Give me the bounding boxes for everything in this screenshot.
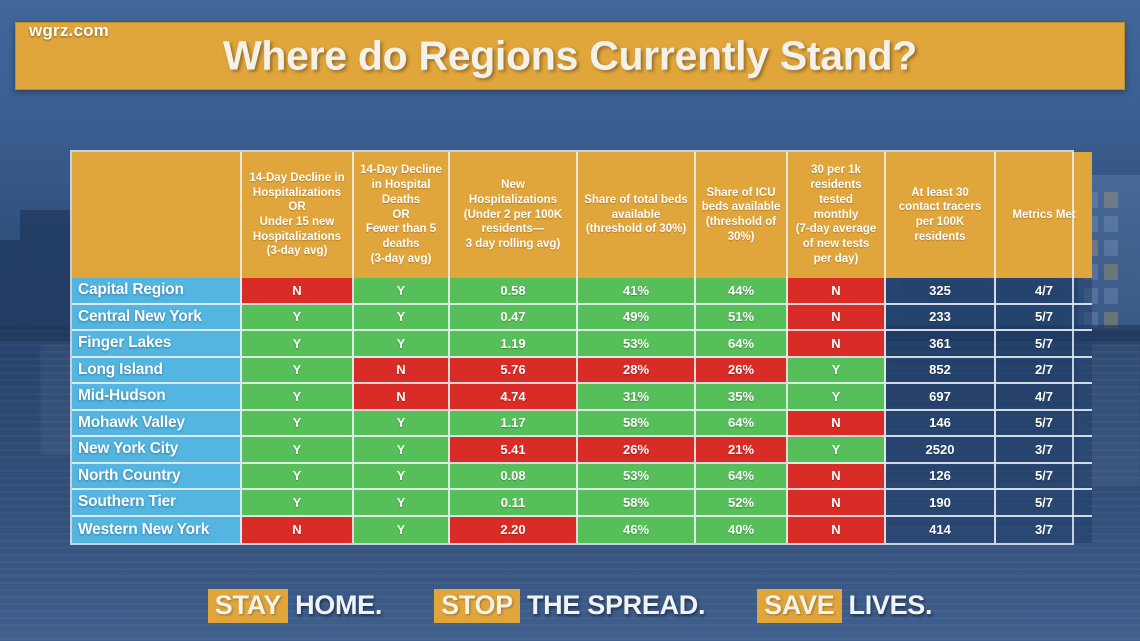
cell-hosp-decline: Y <box>242 358 354 385</box>
cell-total-beds: 28% <box>578 358 696 385</box>
header-line: beds available <box>702 201 781 213</box>
header-cell-6: 30 per 1kresidentstestedmonthly(7-day av… <box>788 152 886 278</box>
cell-testing: N <box>788 411 886 438</box>
cell-testing: N <box>788 517 886 544</box>
slogan-text: HOME. <box>295 590 382 621</box>
cell-metrics-met: 5/7 <box>996 305 1092 332</box>
cell-total-beds: 41% <box>578 278 696 305</box>
header-line: 30 per 1k <box>811 164 861 176</box>
cell-metrics-met: 5/7 <box>996 411 1092 438</box>
cell-icu-beds: 26% <box>696 358 788 385</box>
header-line: residents <box>914 231 965 243</box>
header-line: (3-day avg) <box>371 253 432 265</box>
slogan-highlight: STOP <box>434 589 520 623</box>
page-title: Where do Regions Currently Stand? <box>16 33 1124 80</box>
cell-region-name: Central New York <box>72 305 242 332</box>
window <box>1104 240 1118 256</box>
cell-region-name: Western New York <box>72 517 242 544</box>
table-row: New York CityYY5.4126%21%Y25203/7 <box>72 437 1092 464</box>
header-line: (3-day avg) <box>267 245 328 257</box>
header-line: (7-day average <box>796 223 877 235</box>
cell-contact-tracers: 233 <box>886 305 996 332</box>
slogan-text: LIVES. <box>849 590 933 621</box>
cell-contact-tracers: 414 <box>886 517 996 544</box>
header-cell-1: 14-Day Decline inHospitalizationsORUnder… <box>242 152 354 278</box>
cell-total-beds: 53% <box>578 331 696 358</box>
header-row: 14-Day Decline inHospitalizationsORUnder… <box>72 152 1092 278</box>
header-line: (threshold of 30%) <box>586 223 686 235</box>
table-row: Mohawk ValleyYY1.1758%64%N1465/7 <box>72 411 1092 438</box>
cell-hosp-decline: Y <box>242 437 354 464</box>
header-line: per day) <box>814 253 859 265</box>
table-body: Capital RegionNY0.5841%44%N3254/7Central… <box>72 278 1092 543</box>
cell-testing: N <box>788 331 886 358</box>
table-row: Mid-HudsonYN4.7431%35%Y6974/7 <box>72 384 1092 411</box>
cell-new-hospitalizations: 0.11 <box>450 490 578 517</box>
slogan-phrase-2: STOPTHE SPREAD. <box>434 589 705 623</box>
cell-total-beds: 31% <box>578 384 696 411</box>
cell-death-decline: Y <box>354 411 450 438</box>
table-row: Southern TierYY0.1158%52%N1905/7 <box>72 490 1092 517</box>
cell-metrics-met: 4/7 <box>996 278 1092 305</box>
header-line: Hospitalizations <box>253 187 341 199</box>
table-row: North CountryYY0.0853%64%N1265/7 <box>72 464 1092 491</box>
table-row: Western New YorkNY2.2046%40%N4143/7 <box>72 517 1092 544</box>
slogan-highlight: SAVE <box>757 589 841 623</box>
header-line: Share of ICU <box>706 187 775 199</box>
cell-region-name: New York City <box>72 437 242 464</box>
cell-icu-beds: 52% <box>696 490 788 517</box>
cell-new-hospitalizations: 0.58 <box>450 278 578 305</box>
header-line: Deaths <box>382 194 420 206</box>
cell-testing: N <box>788 278 886 305</box>
header-cell-5: Share of ICUbeds available(threshold of3… <box>696 152 788 278</box>
header-line: Hospitalizations <box>469 194 557 206</box>
header-line: OR <box>392 209 409 221</box>
cell-new-hospitalizations: 0.08 <box>450 464 578 491</box>
cell-death-decline: Y <box>354 490 450 517</box>
cell-testing: N <box>788 305 886 332</box>
cell-hosp-decline: Y <box>242 384 354 411</box>
cell-metrics-met: 2/7 <box>996 358 1092 385</box>
cell-total-beds: 26% <box>578 437 696 464</box>
window <box>1104 216 1118 232</box>
regions-metrics-table: 14-Day Decline inHospitalizationsORUnder… <box>72 152 1092 543</box>
cell-testing: N <box>788 464 886 491</box>
header-line: (threshold of <box>706 216 776 228</box>
cell-death-decline: N <box>354 358 450 385</box>
table-header: 14-Day Decline inHospitalizationsORUnder… <box>72 152 1092 278</box>
header-line: 30%) <box>728 231 755 243</box>
table-row: Central New YorkYY0.4749%51%N2335/7 <box>72 305 1092 332</box>
cell-metrics-met: 4/7 <box>996 384 1092 411</box>
slogan-text: THE SPREAD. <box>527 590 705 621</box>
header-cell-8: Metrics Met <box>996 152 1092 278</box>
cell-metrics-met: 3/7 <box>996 517 1092 544</box>
header-line: Under 15 new <box>260 216 335 228</box>
header-line: available <box>612 209 661 221</box>
table-row: Long IslandYN5.7628%26%Y8522/7 <box>72 358 1092 385</box>
cell-testing: Y <box>788 358 886 385</box>
cell-hosp-decline: Y <box>242 305 354 332</box>
cell-metrics-met: 5/7 <box>996 464 1092 491</box>
header-cell-4: Share of total bedsavailable(threshold o… <box>578 152 696 278</box>
cell-icu-beds: 51% <box>696 305 788 332</box>
cell-icu-beds: 21% <box>696 437 788 464</box>
cell-total-beds: 58% <box>578 411 696 438</box>
cell-testing: Y <box>788 384 886 411</box>
cell-icu-beds: 35% <box>696 384 788 411</box>
header-line: 14-Day Decline in <box>249 172 344 184</box>
header-line: of new tests <box>803 238 869 250</box>
header-line: in Hospital <box>372 179 431 191</box>
cell-contact-tracers: 361 <box>886 331 996 358</box>
metrics-table-container: 14-Day Decline inHospitalizationsORUnder… <box>72 152 1072 543</box>
cell-hosp-decline: Y <box>242 331 354 358</box>
cell-region-name: Long Island <box>72 358 242 385</box>
cell-icu-beds: 44% <box>696 278 788 305</box>
slogan-phrase-3: SAVELIVES. <box>757 589 932 623</box>
header-line: contact tracers <box>899 201 981 213</box>
cell-region-name: Southern Tier <box>72 490 242 517</box>
cell-new-hospitalizations: 0.47 <box>450 305 578 332</box>
cell-total-beds: 53% <box>578 464 696 491</box>
title-banner: wgrz.com Where do Regions Currently Stan… <box>15 22 1125 90</box>
cell-new-hospitalizations: 2.20 <box>450 517 578 544</box>
cell-death-decline: Y <box>354 517 450 544</box>
cell-contact-tracers: 2520 <box>886 437 996 464</box>
window-lit <box>1104 192 1118 208</box>
window-lit <box>1104 264 1118 280</box>
cell-region-name: Finger Lakes <box>72 331 242 358</box>
cell-new-hospitalizations: 1.19 <box>450 331 578 358</box>
header-line: monthly <box>814 209 859 221</box>
cell-icu-beds: 64% <box>696 464 788 491</box>
cell-region-name: Mid-Hudson <box>72 384 242 411</box>
cell-death-decline: Y <box>354 331 450 358</box>
cell-hosp-decline: Y <box>242 464 354 491</box>
cell-new-hospitalizations: 5.41 <box>450 437 578 464</box>
header-line: 3 day rolling avg) <box>466 238 561 250</box>
cell-contact-tracers: 126 <box>886 464 996 491</box>
header-cell-3: NewHospitalizations(Under 2 per 100Kresi… <box>450 152 578 278</box>
cell-hosp-decline: N <box>242 517 354 544</box>
cell-total-beds: 49% <box>578 305 696 332</box>
header-line: Hospitalizations <box>253 231 341 243</box>
cell-contact-tracers: 146 <box>886 411 996 438</box>
cell-hosp-decline: Y <box>242 411 354 438</box>
cell-icu-beds: 64% <box>696 331 788 358</box>
header-line: deaths <box>382 238 419 250</box>
header-line: Metrics Met <box>1012 209 1075 221</box>
header-line: 14-Day Decline <box>360 164 442 176</box>
window <box>1104 288 1118 304</box>
cell-contact-tracers: 190 <box>886 490 996 517</box>
cell-region-name: Mohawk Valley <box>72 411 242 438</box>
header-cell-7: At least 30contact tracersper 100Kreside… <box>886 152 996 278</box>
cell-icu-beds: 40% <box>696 517 788 544</box>
header-line: Share of total beds <box>584 194 688 206</box>
cell-death-decline: Y <box>354 464 450 491</box>
header-line: residents— <box>482 223 545 235</box>
cell-region-name: North Country <box>72 464 242 491</box>
cell-contact-tracers: 697 <box>886 384 996 411</box>
cell-death-decline: Y <box>354 437 450 464</box>
slogan-highlight: STAY <box>208 589 288 623</box>
cell-total-beds: 46% <box>578 517 696 544</box>
header-line: tested <box>819 194 853 206</box>
cell-death-decline: N <box>354 384 450 411</box>
header-line: (Under 2 per 100K <box>464 209 562 221</box>
cell-hosp-decline: N <box>242 278 354 305</box>
header-line: At least 30 <box>911 187 969 199</box>
header-line: Fewer than 5 <box>366 223 436 235</box>
cell-new-hospitalizations: 5.76 <box>450 358 578 385</box>
cell-new-hospitalizations: 4.74 <box>450 384 578 411</box>
cell-contact-tracers: 852 <box>886 358 996 385</box>
header-line: residents <box>810 179 861 191</box>
table-row: Finger LakesYY1.1953%64%N3615/7 <box>72 331 1092 358</box>
header-cell-region <box>72 152 242 278</box>
cell-icu-beds: 64% <box>696 411 788 438</box>
slogan-phrase-1: STAYHOME. <box>208 589 382 623</box>
cell-region-name: Capital Region <box>72 278 242 305</box>
cell-total-beds: 58% <box>578 490 696 517</box>
header-line: New <box>501 179 525 191</box>
cell-death-decline: Y <box>354 305 450 332</box>
table-row: Capital RegionNY0.5841%44%N3254/7 <box>72 278 1092 305</box>
cell-testing: N <box>788 490 886 517</box>
cell-contact-tracers: 325 <box>886 278 996 305</box>
cell-death-decline: Y <box>354 278 450 305</box>
header-line: per 100K <box>916 216 965 228</box>
public-health-slogan: STAYHOME.STOPTHE SPREAD.SAVELIVES. <box>0 589 1140 623</box>
cell-metrics-met: 5/7 <box>996 490 1092 517</box>
cell-hosp-decline: Y <box>242 490 354 517</box>
header-line: OR <box>288 201 305 213</box>
header-cell-2: 14-Day Declinein HospitalDeathsORFewer t… <box>354 152 450 278</box>
cell-metrics-met: 3/7 <box>996 437 1092 464</box>
cell-metrics-met: 5/7 <box>996 331 1092 358</box>
cell-testing: Y <box>788 437 886 464</box>
cell-new-hospitalizations: 1.17 <box>450 411 578 438</box>
